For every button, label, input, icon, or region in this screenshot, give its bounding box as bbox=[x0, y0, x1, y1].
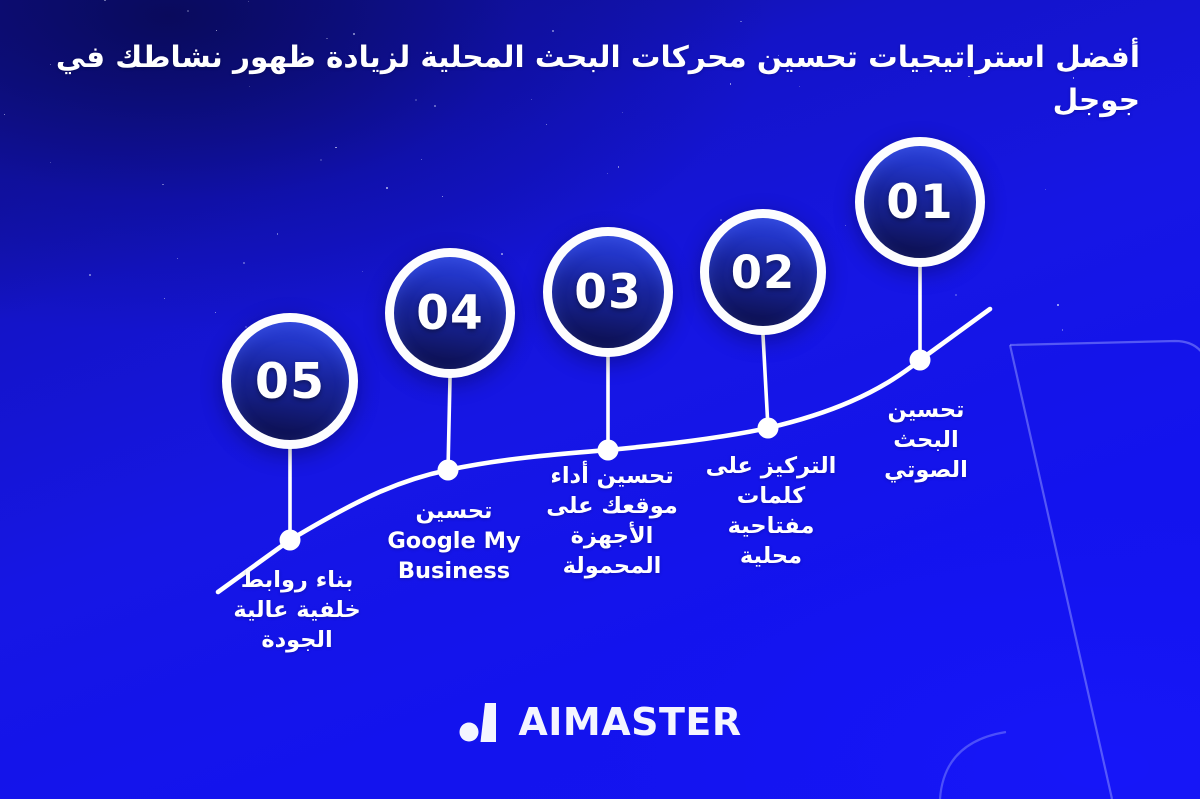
infographic-canvas: أفضل استراتيجيات تحسين محركات البحث المح… bbox=[0, 0, 1200, 799]
curve-node-dot[interactable] bbox=[910, 350, 931, 371]
step-label-02: التركيز على كلمات مفتاحية محلية bbox=[700, 452, 842, 572]
step-label-05: بناء روابط خلفية عالية الجودة bbox=[224, 566, 370, 656]
step-circle-02[interactable]: 02 bbox=[700, 209, 826, 335]
curve-node-dot[interactable] bbox=[280, 530, 301, 551]
aimaster-mark-icon bbox=[458, 701, 504, 743]
curve-node-dot[interactable] bbox=[598, 440, 619, 461]
brand-logo: AIMASTER bbox=[0, 700, 1200, 744]
step-number: 05 bbox=[255, 353, 325, 410]
step-number: 01 bbox=[886, 175, 953, 230]
brand-logo-text: AIMASTER bbox=[518, 700, 741, 744]
step-circle-04[interactable]: 04 bbox=[385, 248, 515, 378]
step-circle-05[interactable]: 05 bbox=[222, 313, 358, 449]
step-circle-03[interactable]: 03 bbox=[543, 227, 673, 357]
step-label-03: تحسين أداء موقعك على الأجهزة المحمولة bbox=[538, 462, 686, 582]
step-number: 04 bbox=[416, 286, 483, 341]
connector-stem bbox=[763, 335, 768, 428]
step-label-04: تحسين Google My Business bbox=[384, 497, 524, 587]
curve-node-dot[interactable] bbox=[758, 418, 779, 439]
journey-line-layer bbox=[0, 0, 1200, 799]
step-number: 02 bbox=[731, 246, 796, 299]
curve-node-dot[interactable] bbox=[438, 460, 459, 481]
step-circle-01[interactable]: 01 bbox=[855, 137, 985, 267]
step-number: 03 bbox=[574, 265, 641, 320]
connector-stem bbox=[448, 378, 450, 470]
step-label-01: تحسين البحث الصوتي bbox=[856, 396, 996, 486]
